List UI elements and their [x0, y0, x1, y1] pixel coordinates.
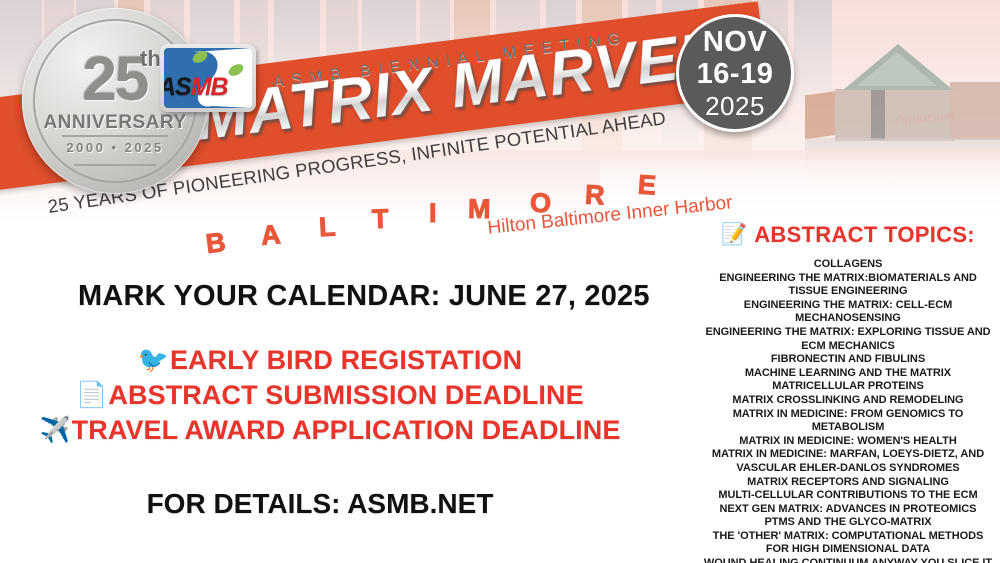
date-badge: NOV 16-19 2025 — [676, 14, 794, 132]
bird-icon: 🐦 — [138, 348, 169, 373]
badge-year: 2025 — [705, 93, 765, 119]
abstract-topics-heading: 📝 ABSTRACT TOPICS: — [700, 222, 996, 248]
topic-item: MATRIX IN MEDICINE: MARFAN, LOEYS-DIETZ,… — [700, 448, 996, 475]
badge-month: NOV — [703, 28, 767, 57]
topic-item: MATRIX IN MEDICINE: FROM GENOMICS TO MET… — [700, 408, 996, 435]
city-letter: L — [318, 212, 336, 244]
topic-item: MACHINE LEARNING AND THE MATRIX — [700, 367, 996, 381]
topic-item: MATRICELLULAR PROTEINS — [700, 380, 996, 394]
asmb-wordmark-as: AS — [164, 73, 191, 101]
seal-ordinal: th — [140, 46, 161, 72]
deadline-label: TRAVEL AWARD APPLICATION DEADLINE — [72, 415, 621, 446]
city-letter: B — [204, 227, 227, 260]
topic-item: ENGINEERING THE MATRIX: EXPLORING TISSUE… — [700, 326, 996, 353]
asmb-wordmark: ASMB — [164, 73, 228, 102]
mark-calendar-line: MARK YOUR CALENDAR: JUNE 27, 2025 — [78, 280, 650, 313]
badge-days: 16-19 — [697, 60, 774, 89]
topic-item: FIBRONECTIN AND FIBULINS — [700, 353, 996, 367]
topic-item: COLLAGENS — [700, 258, 996, 272]
topic-item: WOUND HEALING CONTINUUM ANYWAY YOU SLICE… — [700, 557, 996, 563]
topic-item: MATRIX RECEPTORS AND SIGNALING — [700, 476, 996, 490]
city-letter: T — [371, 204, 389, 236]
details-line: FOR DETAILS: ASMB.NET — [0, 488, 640, 520]
asmb-logo: ASMB — [160, 44, 256, 112]
conference-poster: Aquarium ASMB BIENNIAL MEETING MATRIX MA… — [0, 0, 1000, 563]
seal-years: 2000 • 2025 — [22, 140, 208, 155]
topic-item: ENGINEERING THE MATRIX:BIOMATERIALS AND … — [700, 272, 996, 299]
topic-item: MATRIX IN MEDICINE: WOMEN'S HEALTH — [700, 435, 996, 449]
city-letter: I — [429, 198, 437, 229]
deadline-label: ABSTRACT SUBMISSION DEADLINE — [108, 380, 583, 411]
topic-item: MATRIX CROSSLINKING AND REMODELING — [700, 394, 996, 408]
topics-heading: ABSTRACT TOPICS: — [754, 222, 975, 248]
deadline-list: 🐦 EARLY BIRD REGISTATION 📄 ABSTRACT SUBM… — [20, 345, 640, 450]
seal-anniversary: ANNIVERSARY — [22, 112, 208, 134]
memo-icon: 📝 — [721, 223, 747, 247]
topic-item: THE 'OTHER' MATRIX: COMPUTATIONAL METHOD… — [700, 530, 996, 557]
topic-item: ENGINEERING THE MATRIX: CELL-ECM MECHANO… — [700, 299, 996, 326]
list-item: ✈️ TRAVEL AWARD APPLICATION DEADLINE — [20, 415, 640, 446]
topic-item: PTMS AND THE GLYCO-MATRIX — [700, 516, 996, 530]
asmb-wordmark-mb: MB — [191, 73, 228, 101]
list-item: 📄 ABSTRACT SUBMISSION DEADLINE — [20, 380, 640, 411]
deadline-label: EARLY BIRD REGISTATION — [170, 345, 522, 376]
topic-item: NEXT GEN MATRIX: ADVANCES IN PROTEOMICS — [700, 503, 996, 517]
list-item: 🐦 EARLY BIRD REGISTATION — [20, 345, 640, 376]
abstract-topics-panel: 📝 ABSTRACT TOPICS: COLLAGENS ENGINEERING… — [700, 222, 996, 563]
document-icon: 📄 — [76, 383, 107, 408]
city-letter: A — [260, 219, 282, 252]
airplane-icon: ✈️ — [40, 418, 71, 443]
city-letter: E — [637, 169, 657, 201]
topic-item: MULTI-CELLULAR CONTRIBUTIONS TO THE ECM — [700, 489, 996, 503]
